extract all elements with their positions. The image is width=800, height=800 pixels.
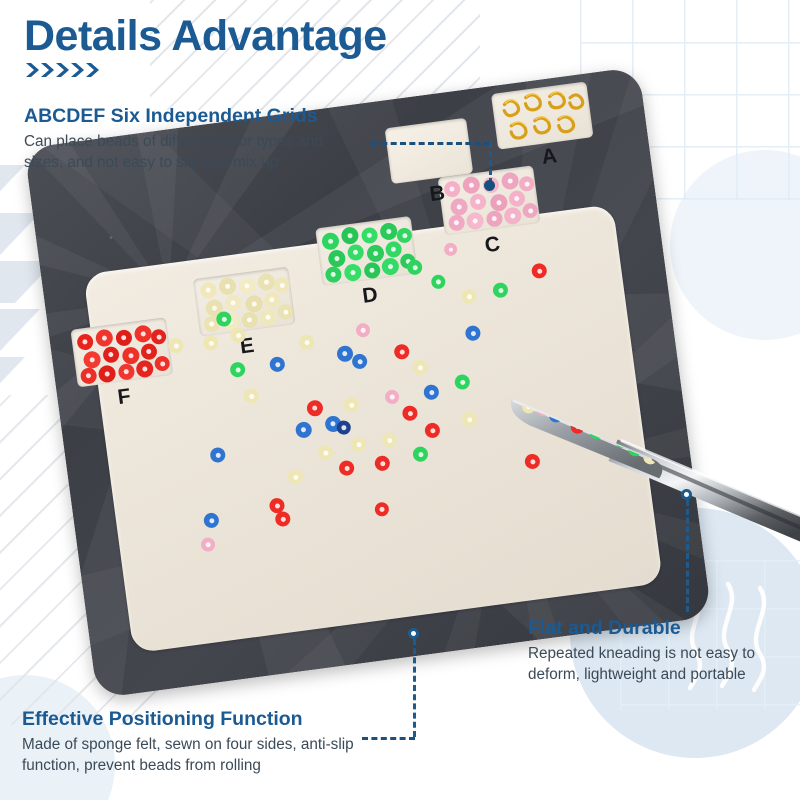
compartment-b (385, 118, 474, 184)
page-title: Details Advantage (24, 14, 387, 59)
callout-flat-body: Repeated kneading is not easy to deform,… (528, 644, 798, 685)
callout-positioning: Effective Positioning Function Made of s… (22, 708, 387, 777)
callout-flat-heading: Flat and Durable (528, 617, 798, 639)
compartment-label-f: F (116, 385, 132, 410)
callout-positioning-body: Made of sponge felt, sewn on four sides,… (22, 735, 387, 776)
chevron-accent (26, 62, 108, 78)
compartment-label-a: A (540, 144, 558, 170)
product-photo: F E (58, 105, 698, 685)
compartment-label-c: C (483, 232, 501, 258)
compartment-label-d: D (361, 283, 379, 309)
callout-grids-heading: ABCDEF Six Independent Grids (24, 105, 364, 127)
callout-grids-body: Can place beads of different color types… (24, 132, 364, 173)
callout-positioning-heading: Effective Positioning Function (22, 708, 387, 730)
compartment-label-b: B (428, 181, 446, 207)
callout-grids: ABCDEF Six Independent Grids Can place b… (24, 105, 364, 174)
callout-flat: Flat and Durable Repeated kneading is no… (528, 617, 798, 686)
infographic-canvas: F E (0, 0, 800, 800)
